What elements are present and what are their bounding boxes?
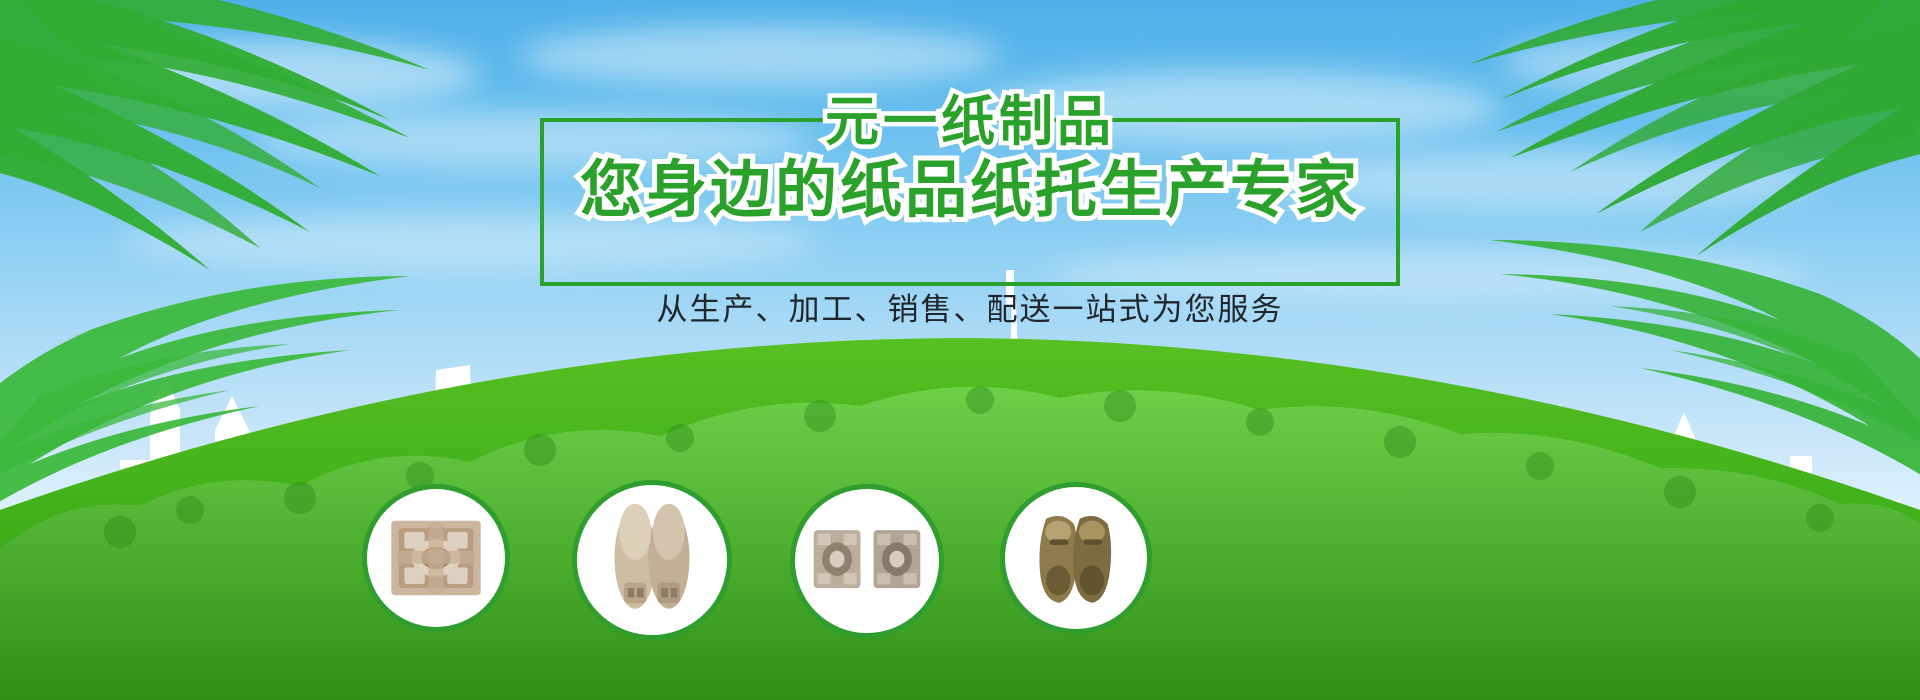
cloud-icon [520,25,1000,87]
subtitle-text: 从生产、加工、销售、配送一站式为您服务 [540,288,1400,332]
paper-pulp-corner-protectors-icon [795,489,939,633]
headline-block: 元一纸制品 您身边的纸品纸托生产专家 [540,92,1400,292]
product-circle-2[interactable] [572,480,732,640]
promo-banner: 元一纸制品 您身边的纸品纸托生产专家 从生产、加工、销售、配送一站式为您服务 [0,0,1920,700]
headline-text: 您身边的纸品纸托生产专家 [540,154,1400,226]
product-circle-1[interactable] [362,484,510,632]
product-circle-3[interactable] [790,484,944,638]
paper-pulp-shoe-insert-dark-icon [1005,487,1147,629]
product-circle-group [0,400,1920,700]
paper-pulp-tray-square-icon [367,489,505,627]
paper-pulp-shoe-tree-pair-icon [577,485,727,635]
product-circle-4[interactable] [1000,482,1152,634]
brand-title: 元一纸制品 [540,92,1400,152]
